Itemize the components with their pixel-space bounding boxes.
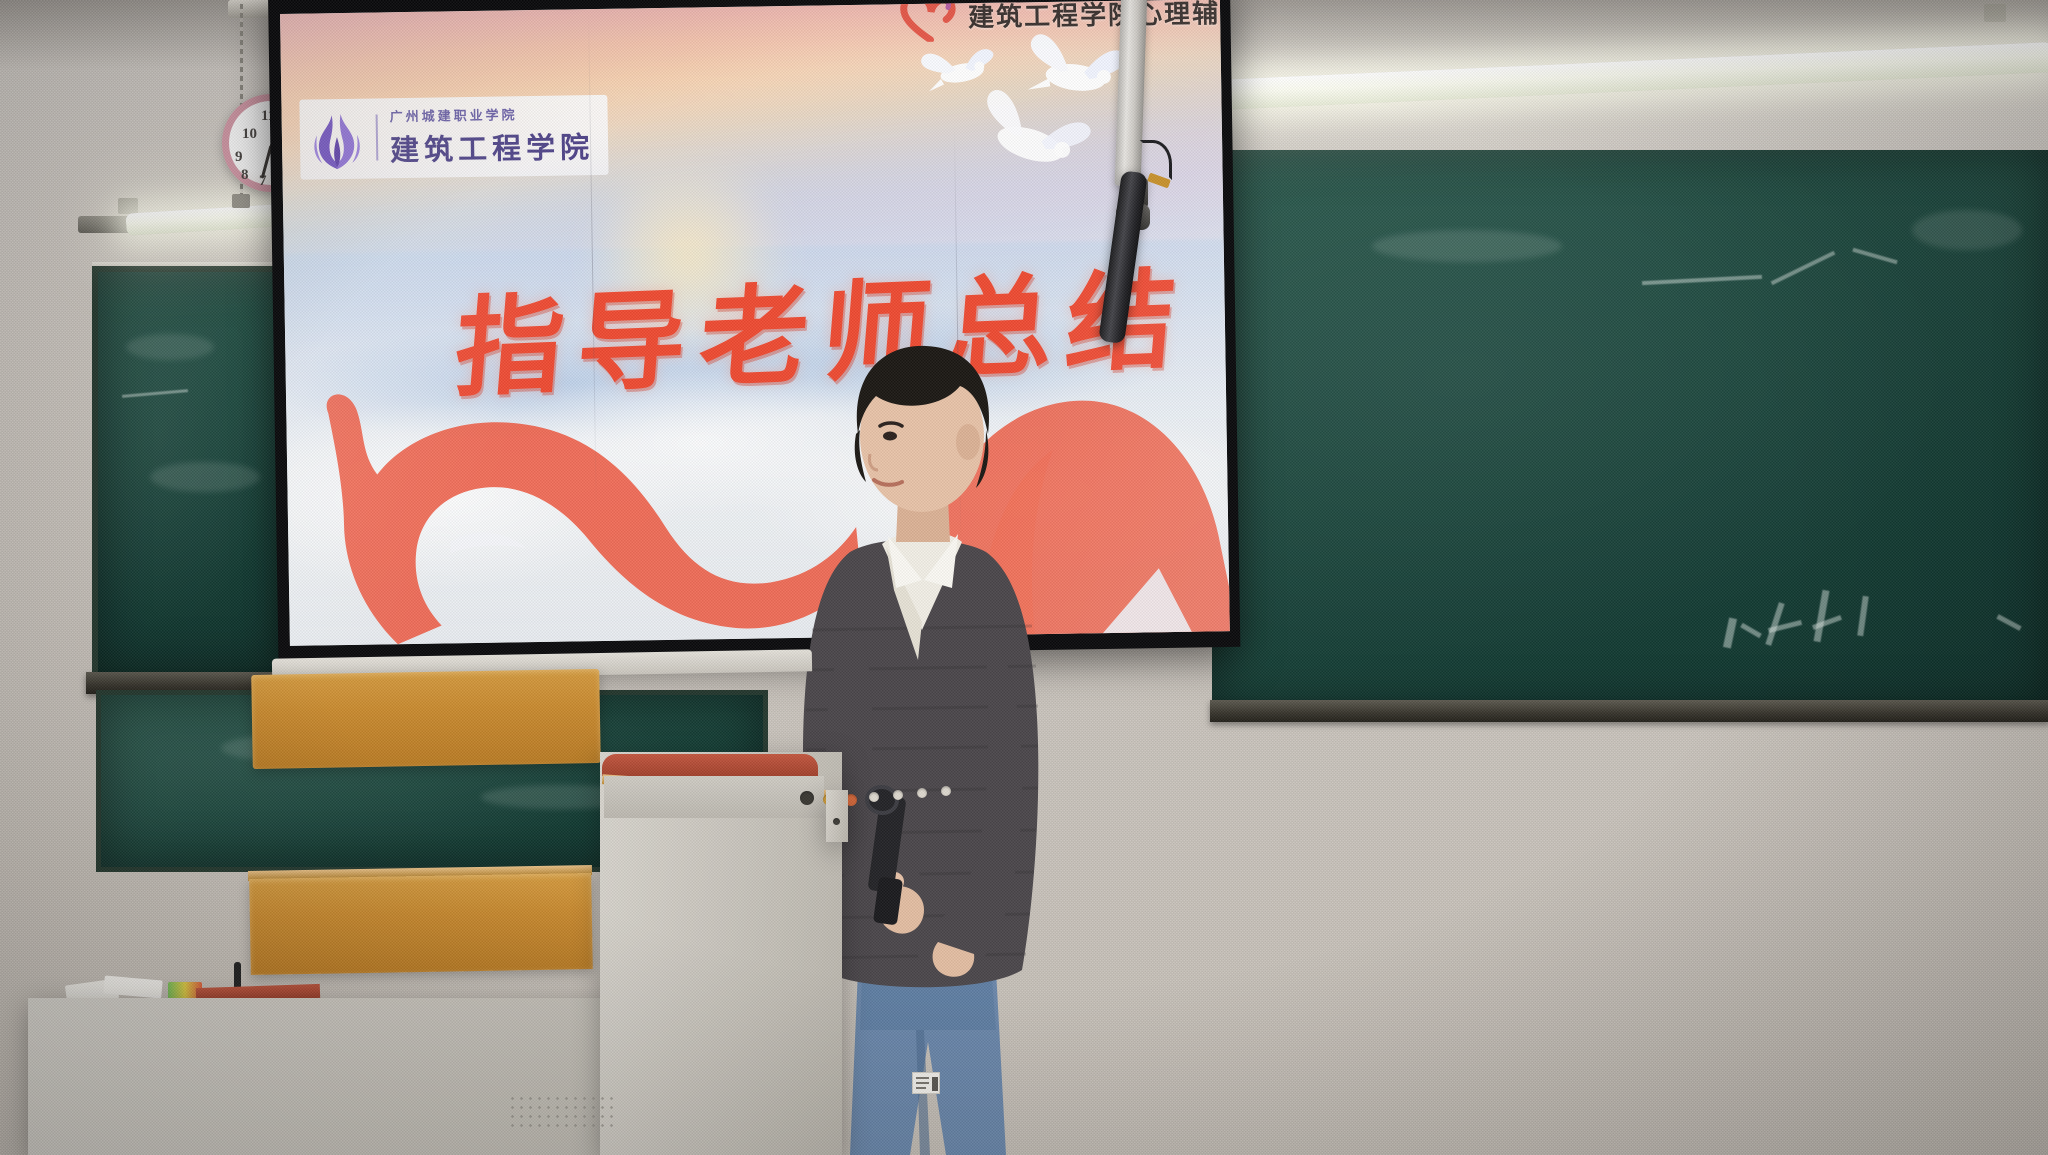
control-indicator[interactable] bbox=[917, 788, 927, 798]
projected-slide: 建筑工程学院心理辅导站 广州城建职业学院 建筑工程学院 指导老师总结 bbox=[280, 0, 1230, 646]
clock-numeral: 8 bbox=[241, 167, 249, 184]
lectern-wood-panel bbox=[249, 873, 593, 975]
slide-header: 建筑工程学院心理辅导站 bbox=[900, 0, 1230, 42]
lectern-upper-wood bbox=[251, 669, 601, 769]
chain-anchor bbox=[232, 194, 250, 208]
purple-flame-logo-icon bbox=[309, 105, 364, 172]
school-logo-plate: 广州城建职业学院 建筑工程学院 bbox=[299, 95, 608, 180]
right-chalk-tray bbox=[1210, 700, 2048, 722]
logo-school-name: 广州城建职业学院 bbox=[389, 103, 593, 125]
lectern-side-bracket bbox=[826, 790, 848, 842]
right-chalkboard bbox=[1212, 150, 2048, 710]
equipment-sticker bbox=[912, 1072, 940, 1094]
logo-college-name: 建筑工程学院 bbox=[390, 124, 595, 169]
control-indicator[interactable] bbox=[869, 792, 879, 802]
light-bracket-left bbox=[118, 198, 138, 214]
tube-cap-left bbox=[78, 216, 132, 233]
lectern-speaker-grille bbox=[508, 1094, 616, 1128]
control-indicator[interactable] bbox=[941, 786, 951, 796]
heart-swirl-icon bbox=[900, 0, 959, 42]
slide-header-text: 建筑工程学院心理辅导站 bbox=[968, 0, 1230, 34]
left-chalkboard bbox=[92, 266, 304, 678]
classroom-photo: 12 11 10 9 8 7 6 5 bbox=[0, 0, 2048, 1155]
lectern-red-trim bbox=[602, 754, 818, 776]
control-indicator[interactable] bbox=[893, 790, 903, 800]
clock-numeral: 10 bbox=[242, 126, 257, 143]
clock-numeral: 9 bbox=[235, 149, 243, 166]
control-indicator[interactable] bbox=[800, 791, 814, 805]
light-bracket-right bbox=[1984, 4, 2006, 22]
lectern-control-panel[interactable] bbox=[604, 776, 824, 818]
bracket-screw bbox=[833, 818, 840, 825]
logo-divider bbox=[376, 114, 379, 160]
